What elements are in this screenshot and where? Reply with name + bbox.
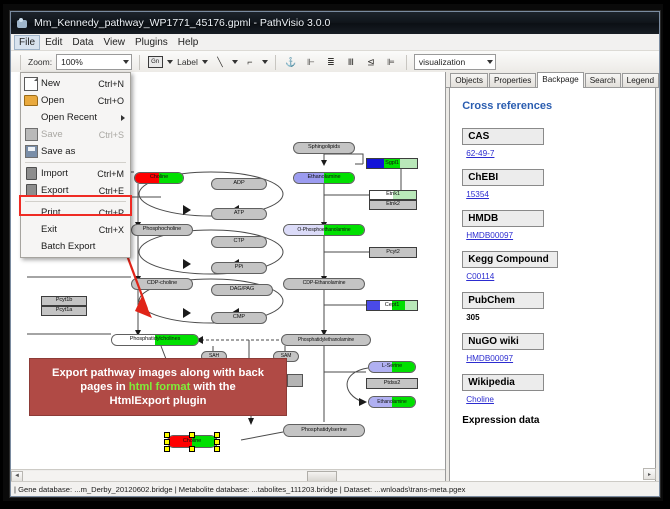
- xref-header-hmdb: HMDB: [462, 210, 544, 227]
- submenu-arrow-icon: [121, 115, 125, 121]
- xref-header-nugo: NuGO wiki: [462, 333, 544, 350]
- menu-edit[interactable]: Edit: [40, 35, 67, 50]
- anchor-button[interactable]: ⚓: [283, 54, 299, 70]
- node-etnk2[interactable]: Etnk2: [369, 200, 417, 210]
- annotation-callout: Export pathway images along with back pa…: [29, 358, 287, 416]
- pathway-anchor-box[interactable]: [287, 374, 303, 387]
- selection-handle[interactable]: [189, 446, 195, 452]
- datanode-dropdown-arrow-icon[interactable]: [167, 60, 173, 64]
- selection-handle[interactable]: [164, 446, 170, 452]
- tab-objects[interactable]: Objects: [450, 73, 488, 87]
- selection-handle[interactable]: [189, 432, 195, 438]
- toolbar-separator: [139, 55, 140, 70]
- chevron-down-icon: [487, 60, 493, 64]
- node-phosphocholine[interactable]: Phosphocholine: [131, 224, 193, 236]
- menu-divider: [25, 162, 126, 163]
- node-pcyt1b[interactable]: Pcyt1b: [41, 296, 87, 306]
- side-panel: Objects Properties Backpage Search Legen…: [446, 72, 659, 496]
- xref-link-hmdb[interactable]: HMDB00097: [466, 231, 513, 240]
- status-text: | Gene database: ...m_Derby_20120602.bri…: [14, 485, 465, 494]
- annotation-line2a: pages in: [80, 381, 129, 393]
- connector-dropdown-arrow-icon[interactable]: [262, 60, 268, 64]
- node-ptdss2[interactable]: Ptdss2: [366, 378, 418, 389]
- node-phosphatidylcholines[interactable]: Phosphatidylcholines: [111, 334, 199, 346]
- scroll-left-arrow-icon[interactable]: ◄: [11, 471, 23, 482]
- selection-handle[interactable]: [214, 439, 220, 445]
- datanode-button[interactable]: Gn: [147, 54, 163, 70]
- connector-icon: ⌐: [247, 58, 252, 67]
- xref-value-pubchem: 305: [466, 313, 645, 322]
- menu-plugins[interactable]: Plugins: [130, 35, 173, 50]
- annotation-line3: HtmlExport plugin: [110, 395, 207, 407]
- file-menu-dropdown[interactable]: New Ctrl+N Open Ctrl+O Open Recent Save …: [20, 72, 131, 258]
- zoom-combo[interactable]: 100%: [56, 54, 132, 70]
- file-menu-open-recent[interactable]: Open Recent: [21, 109, 130, 126]
- tab-properties[interactable]: Properties: [489, 73, 536, 87]
- file-menu-batch-export[interactable]: Batch Export: [21, 238, 130, 255]
- xref-value-kegg: C00114: [466, 272, 645, 281]
- tab-legend[interactable]: Legend: [622, 73, 659, 87]
- xref-header-cas: CAS: [462, 128, 544, 145]
- annotation-text: Export pathway images along with back pa…: [52, 366, 264, 409]
- xref-value-cas: 62-49-7: [466, 149, 645, 158]
- visualization-value: visualization: [419, 57, 465, 67]
- xref-link-chebi[interactable]: 15354: [466, 190, 489, 199]
- backpage-content: Cross references CAS 62-49-7 ChEBI 15354…: [449, 88, 656, 493]
- xref-link-nugo[interactable]: HMDB00097: [466, 354, 513, 363]
- line-dropdown-arrow-icon[interactable]: [232, 60, 238, 64]
- file-menu-open[interactable]: Open Ctrl+O: [21, 92, 130, 109]
- tab-backpage[interactable]: Backpage: [537, 72, 583, 88]
- genebox-icon: Gn: [148, 56, 163, 68]
- save-icon: [21, 145, 41, 158]
- screenshot-frame: Mm_Kennedy_pathway_WP1771_45176.gpml - P…: [0, 0, 670, 509]
- node-phosphatidylserine[interactable]: Phosphatidylserine: [283, 424, 365, 437]
- node-ppi[interactable]: PPi: [211, 262, 267, 274]
- selection-handle[interactable]: [164, 439, 170, 445]
- chevron-down-icon: [123, 60, 129, 64]
- file-menu-save: Save Ctrl+S: [21, 126, 130, 143]
- xref-value-chebi: 15354: [466, 190, 645, 199]
- node-pcyt1a[interactable]: Pcyt1a: [41, 306, 87, 316]
- label-dropdown-arrow-icon[interactable]: [202, 60, 208, 64]
- line-button[interactable]: ╲: [212, 54, 228, 70]
- pathvisio-window: Mm_Kennedy_pathway_WP1771_45176.gpml - P…: [10, 11, 660, 497]
- menu-bar: File Edit Data View Plugins Help: [11, 34, 659, 51]
- xref-link-wikipedia[interactable]: Choline: [466, 395, 494, 404]
- node-cdp-ethanolamine[interactable]: CDP-Ethanolamine: [283, 278, 365, 290]
- tab-search[interactable]: Search: [585, 73, 621, 87]
- node-pcyt2[interactable]: Pcyt2: [369, 247, 417, 258]
- toolbar-separator: [275, 55, 276, 70]
- xref-value-nugo: HMDB00097: [466, 354, 645, 363]
- node-sgpl1[interactable]: Sgpl1: [366, 158, 418, 169]
- node-ethanolamine-2[interactable]: Ethanolamine: [368, 396, 416, 408]
- open-folder-icon: [21, 95, 41, 106]
- align-center-button[interactable]: ≣: [323, 54, 339, 70]
- align-top-icon: Ⅲ: [348, 58, 354, 67]
- node-dag-pag[interactable]: DAG/PAG: [211, 284, 273, 296]
- align-left-button[interactable]: ⊩: [303, 54, 319, 70]
- menu-help[interactable]: Help: [173, 35, 204, 50]
- node-cdp-choline[interactable]: CDP-choline: [131, 278, 193, 290]
- xref-header-pubchem: PubChem: [462, 292, 544, 309]
- import-icon: [21, 167, 41, 180]
- xref-link-cas[interactable]: 62-49-7: [466, 149, 494, 158]
- toolbar-separator: [20, 55, 21, 70]
- selection-handle[interactable]: [214, 432, 220, 438]
- new-document-icon: [21, 77, 41, 91]
- file-menu-exit[interactable]: Exit Ctrl+X: [21, 221, 130, 238]
- anchor-icon: ⚓: [285, 58, 296, 67]
- stack-button[interactable]: ⊴: [363, 54, 379, 70]
- line-icon: ╲: [217, 58, 222, 67]
- zoom-value: 100%: [61, 57, 83, 67]
- node-atp[interactable]: ATP: [211, 208, 267, 220]
- node-cmp[interactable]: CMP: [211, 312, 267, 324]
- node-choline[interactable]: Choline: [134, 172, 184, 184]
- xref-value-hmdb: HMDB00097: [466, 231, 645, 240]
- selection-handle[interactable]: [164, 432, 170, 438]
- title-bar: Mm_Kennedy_pathway_WP1771_45176.gpml - P…: [11, 12, 659, 34]
- save-disabled-icon: [21, 128, 41, 141]
- connector-button[interactable]: ⌐: [242, 54, 258, 70]
- align-center-icon: ≣: [327, 58, 335, 67]
- node-adp[interactable]: ADP: [211, 178, 267, 190]
- node-sphingolipids[interactable]: Sphingolipids: [293, 142, 355, 154]
- node-cept1[interactable]: Cept1: [366, 300, 418, 311]
- node-ethanolamine[interactable]: Ethanolamine: [293, 172, 355, 184]
- window-title: Mm_Kennedy_pathway_WP1771_45176.gpml - P…: [34, 17, 330, 29]
- node-l-serine[interactable]: L-Serine: [368, 361, 416, 373]
- annotation-line1: Export pathway images along with back: [52, 367, 264, 379]
- xref-header-chebi: ChEBI: [462, 169, 544, 186]
- annotation-line2b: with the: [190, 381, 235, 393]
- batch-export-highlight: [19, 195, 132, 216]
- visualization-combo[interactable]: visualization: [414, 54, 496, 70]
- node-o-phosphoethanolamine[interactable]: O-Phosphoethanolamine: [283, 224, 365, 236]
- order-icon: ⊫: [387, 58, 395, 67]
- hscroll-track[interactable]: [23, 471, 446, 482]
- toolbar-separator: [406, 55, 407, 70]
- xref-link-kegg[interactable]: C00114: [466, 272, 494, 281]
- selection-handle[interactable]: [214, 446, 220, 452]
- node-ctp[interactable]: CTP: [211, 236, 267, 248]
- annotation-html-format: html format: [129, 381, 191, 393]
- app-icon: [16, 17, 29, 30]
- side-panel-scroll-button[interactable]: ▸: [643, 468, 656, 480]
- node-etnk1[interactable]: Etnk1: [369, 190, 417, 200]
- backpage-heading: Cross references: [462, 100, 645, 112]
- toolbar: Zoom: 100% Gn Label ╲ ⌐ ⚓ ⊩ ≣ Ⅲ ⊴ ⊫ visu…: [11, 51, 659, 74]
- align-left-icon: ⊩: [307, 58, 315, 67]
- menu-view[interactable]: View: [98, 35, 130, 50]
- file-menu-import[interactable]: Import Ctrl+M: [21, 165, 130, 182]
- menu-file[interactable]: File: [14, 35, 40, 50]
- stack-icon: ⊴: [367, 58, 375, 67]
- xref-header-kegg: Kegg Compound: [462, 251, 558, 268]
- file-menu-save-as[interactable]: Save as: [21, 143, 130, 160]
- align-top-button[interactable]: Ⅲ: [343, 54, 359, 70]
- menu-data[interactable]: Data: [67, 35, 98, 50]
- status-bar: | Gene database: ...m_Derby_20120602.bri…: [11, 481, 660, 496]
- zoom-label: Zoom:: [28, 57, 52, 67]
- file-menu-new[interactable]: New Ctrl+N: [21, 75, 130, 92]
- xref-value-wikipedia: Choline: [466, 395, 645, 404]
- expression-data-heading: Expression data: [462, 415, 645, 426]
- node-phosphatidylethanolamine[interactable]: Phosphatidylethanolamine: [281, 334, 371, 346]
- order-button[interactable]: ⊫: [383, 54, 399, 70]
- side-panel-tabs: Objects Properties Backpage Search Legen…: [446, 72, 659, 88]
- xref-header-wikipedia: Wikipedia: [462, 374, 544, 391]
- label-button[interactable]: Label: [177, 57, 198, 67]
- hscroll-thumb[interactable]: [307, 471, 337, 482]
